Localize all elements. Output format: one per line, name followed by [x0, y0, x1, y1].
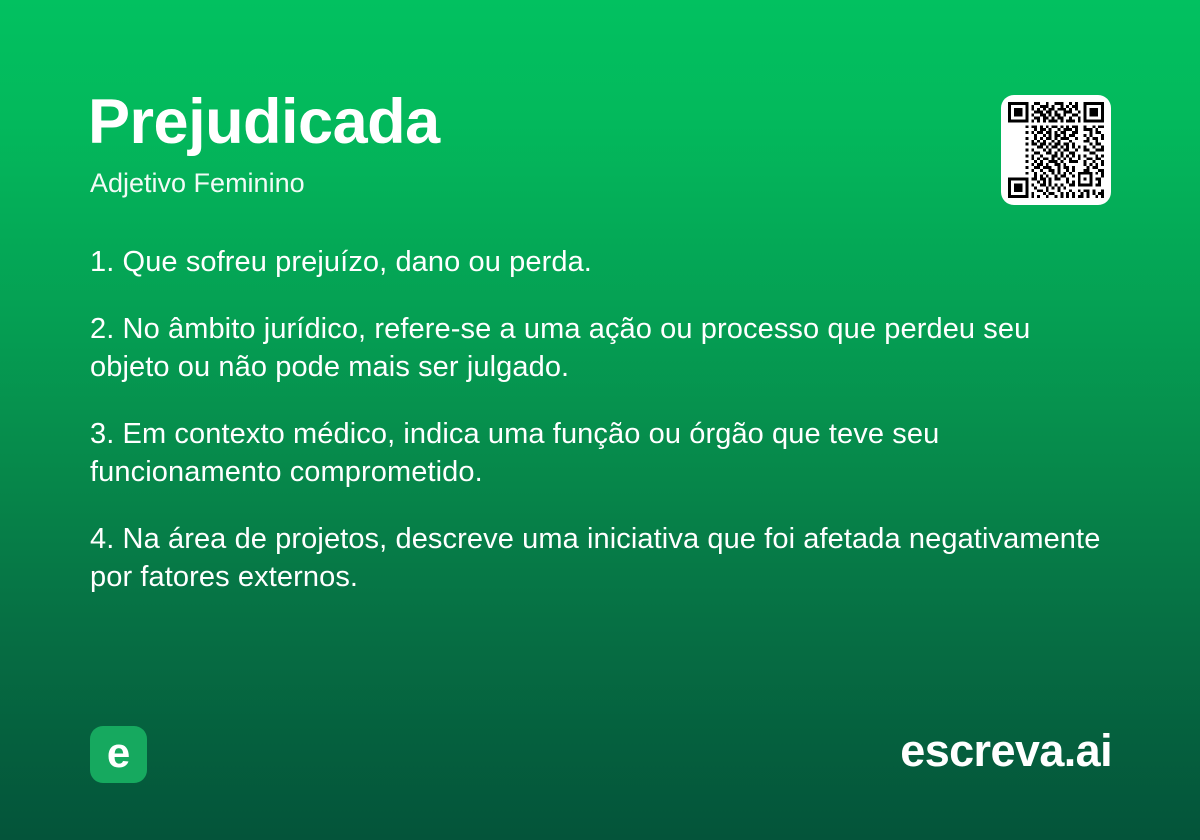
- dictionary-card: Prejudicada Adjetivo Feminino: [0, 0, 1200, 840]
- qr-code-panel[interactable]: [1001, 95, 1111, 205]
- escreva-logo-icon: e: [90, 726, 147, 783]
- definition-list: 1. Que sofreu prejuízo, dano ou perda. 2…: [90, 243, 1110, 596]
- definition-item: 4. Na área de projetos, descreve uma ini…: [90, 520, 1110, 596]
- definition-item: 2. No âmbito jurídico, refere-se a uma a…: [90, 310, 1110, 386]
- page-title: Prejudicada: [88, 86, 440, 158]
- word-class-label: Adjetivo Feminino: [90, 166, 305, 200]
- definition-item: 1. Que sofreu prejuízo, dano ou perda.: [90, 243, 1110, 281]
- logo-letter: e: [107, 732, 130, 774]
- brand-name: escreva.ai: [900, 722, 1112, 780]
- card-footer: e escreva.ai: [0, 700, 1200, 840]
- definition-item: 3. Em contexto médico, indica uma função…: [90, 415, 1110, 491]
- qr-code-icon: [1008, 102, 1104, 198]
